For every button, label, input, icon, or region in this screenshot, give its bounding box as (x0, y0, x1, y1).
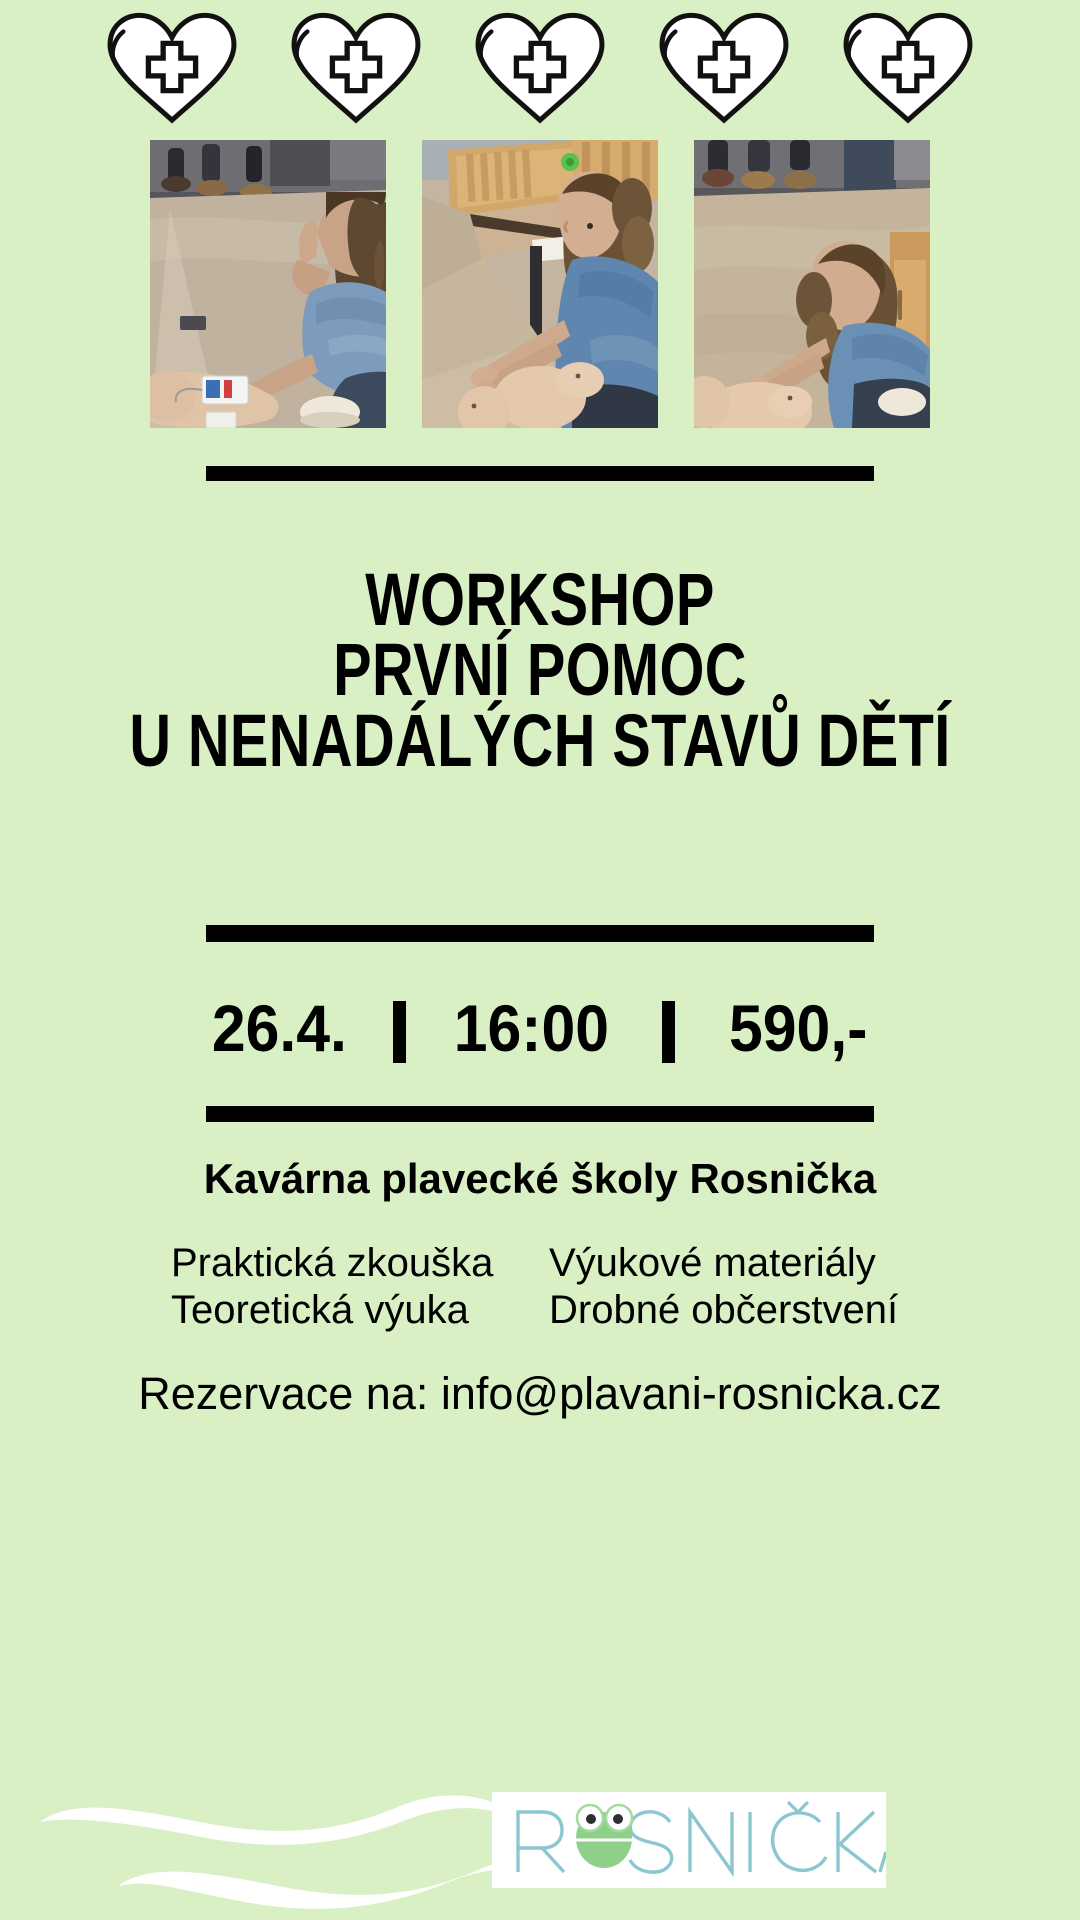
headline-line-2: PRVNÍ POMOC (119, 635, 961, 705)
rosnicka-logo: ROSNIČKA (492, 1792, 886, 1888)
photo-infant-first-aid (422, 140, 658, 428)
divider-rule-middle (206, 925, 874, 942)
page-title: WORKSHOP PRVNÍ POMOC U NENADÁLÝCH STAVŮ … (0, 565, 1080, 776)
divider-rule-bottom (206, 1106, 874, 1122)
features-row-2: Teoretická výuka Drobné občerstvení (0, 1287, 1080, 1334)
heart-with-medical-cross-icon (466, 8, 614, 126)
rosnicka-logo-mark: ROSNIČKA (492, 1792, 886, 1888)
frog-head-icon (576, 1805, 632, 1868)
heart-with-medical-cross-icon (650, 8, 798, 126)
reservation-contact[interactable]: Rezervace na: info@plavani-rosnicka.cz (0, 1368, 1080, 1420)
features-row-1: Praktická zkouška Výukové materiály (0, 1240, 1080, 1287)
separator-bar-icon (662, 1001, 675, 1063)
heart-with-medical-cross-icon (98, 8, 246, 126)
event-details-row: 26.4. 16:00 590,- (0, 995, 1080, 1063)
heart-with-medical-cross-icon (282, 8, 430, 126)
feature-practical-exam: Praktická zkouška (171, 1240, 501, 1287)
headline-line-3: U NENADÁLÝCH STAVŮ DĚTÍ (119, 706, 961, 776)
features-list: Praktická zkouška Výukové materiály Teor… (0, 1240, 1080, 1334)
feature-theory-lesson: Teoretická výuka (171, 1287, 501, 1334)
photo-strip (0, 140, 1080, 430)
separator-bar-icon (393, 1001, 406, 1063)
poster-root: WORKSHOP PRVNÍ POMOC U NENADÁLÝCH STAVŮ … (0, 0, 1080, 1920)
venue-name: Kavárna plavecké školy Rosnička (0, 1155, 1080, 1203)
heart-icon-row (0, 8, 1080, 128)
feature-refreshments: Drobné občerstvení (549, 1287, 909, 1334)
heart-with-medical-cross-icon (834, 8, 982, 126)
event-price: 590,- (729, 995, 867, 1061)
event-time: 16:00 (454, 995, 609, 1061)
white-wave-swoosh-icon (0, 1760, 540, 1920)
photo-cpr-kneeling (694, 140, 930, 428)
event-date: 26.4. (212, 995, 347, 1061)
headline-line-1: WORKSHOP (119, 565, 961, 635)
photo-cpr-adult-manikin (150, 140, 386, 428)
divider-rule-top (206, 466, 874, 481)
feature-teaching-materials: Výukové materiály (549, 1240, 909, 1287)
